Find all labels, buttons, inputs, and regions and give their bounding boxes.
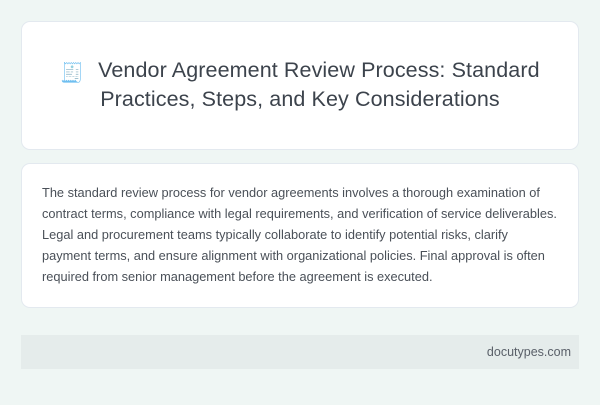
footer-bar: docutypes.com: [21, 335, 579, 369]
title-card: 🧾Vendor Agreement Review Process: Standa…: [21, 21, 579, 150]
page-title: 🧾Vendor Agreement Review Process: Standa…: [46, 56, 554, 114]
page-title-text: Vendor Agreement Review Process: Standar…: [98, 58, 540, 111]
page-root: 🧾Vendor Agreement Review Process: Standa…: [0, 0, 600, 405]
site-name-label: docutypes.com: [487, 345, 571, 359]
receipt-document-icon: 🧾: [60, 63, 84, 84]
body-paragraph: The standard review process for vendor a…: [42, 182, 558, 287]
body-card: The standard review process for vendor a…: [21, 163, 579, 308]
